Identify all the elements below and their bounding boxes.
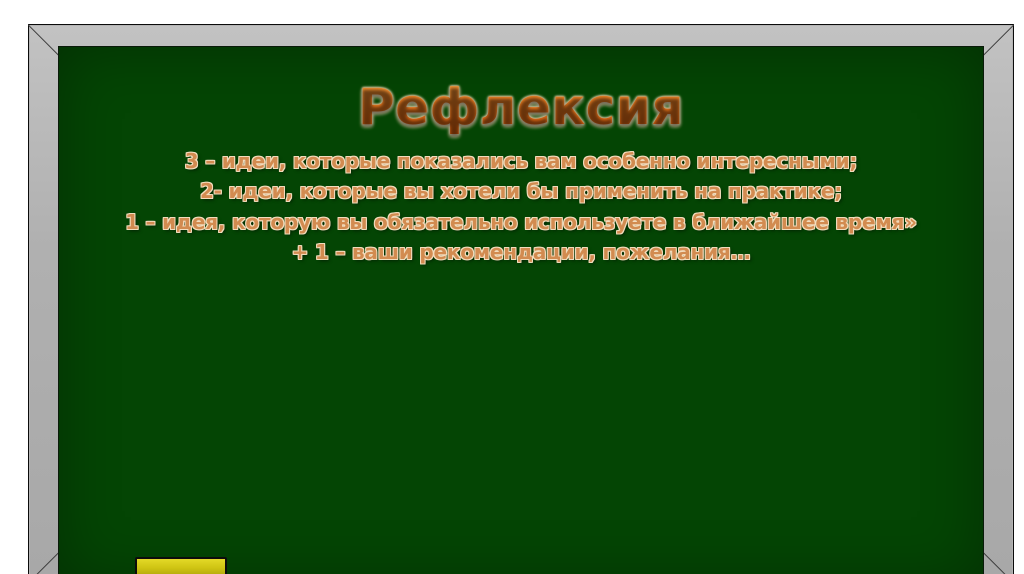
blackboard: Рефлексия 3 – идеи, которые показались в…	[28, 24, 1014, 574]
eraser-icon	[135, 557, 227, 574]
list-item: + 1 – ваши рекомендации, пожелания…	[73, 237, 969, 267]
slide-canvas: Рефлексия 3 – идеи, которые показались в…	[0, 0, 1024, 574]
blackboard-surface: Рефлексия 3 – идеи, которые показались в…	[58, 46, 984, 574]
list-item: 2- идеи, которые вы хотели бы применить …	[73, 176, 969, 206]
slide-content: Рефлексия 3 – идеи, которые показались в…	[59, 81, 983, 268]
page-title: Рефлексия	[73, 81, 969, 134]
list-item: 1 – идея, которую вы обязательно использ…	[73, 207, 969, 237]
reflection-list: 3 – идеи, которые показались вам особенн…	[73, 146, 969, 268]
list-item: 3 – идеи, которые показались вам особенн…	[73, 146, 969, 176]
